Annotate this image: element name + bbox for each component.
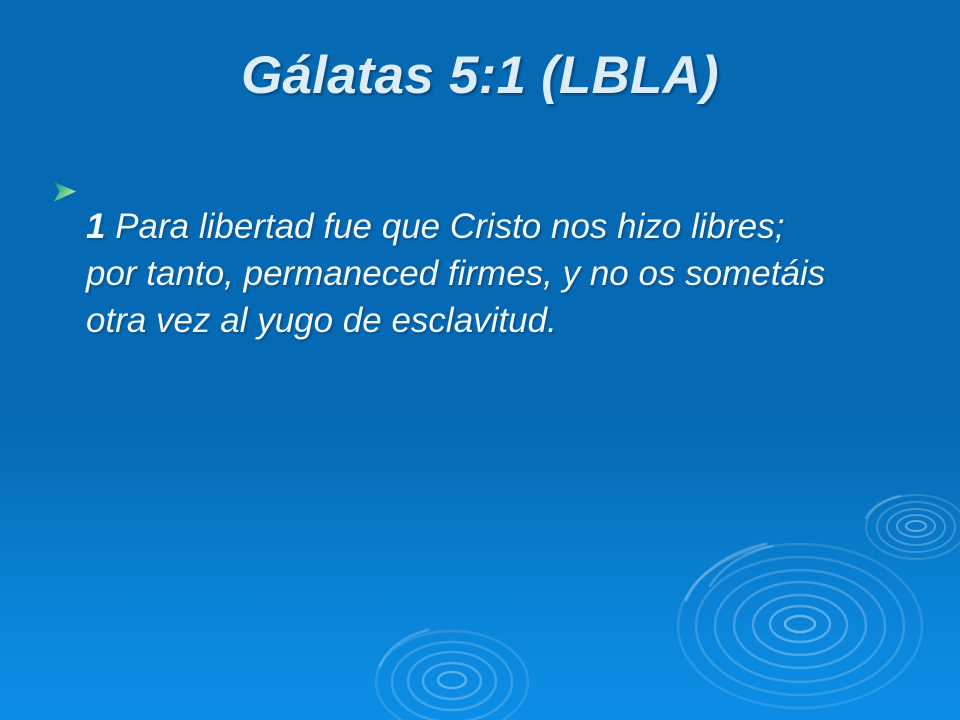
list-item: 1 Para libertad fue que Cristo nos hizo … (52, 168, 872, 379)
presentation-slide: Gálatas 5:1 (LBLA) 1 Para liber (0, 0, 960, 720)
verse-text: Para libertad fue que Cristo nos hizo li… (86, 207, 825, 340)
bullet-text: 1 Para libertad fue que Cristo nos hizo … (86, 203, 826, 344)
ripple-large-center (678, 544, 922, 708)
content-placeholder: 1 Para libertad fue que Cristo nos hizo … (52, 168, 872, 379)
arrow-bullet-icon (52, 168, 86, 203)
ripple-medium-left (376, 630, 528, 720)
verse-number: 1 (86, 207, 105, 246)
slide-title: Gálatas 5:1 (LBLA) (48, 46, 912, 105)
ripple-small-top-right (866, 495, 960, 559)
title-placeholder: Gálatas 5:1 (LBLA) (48, 46, 912, 105)
